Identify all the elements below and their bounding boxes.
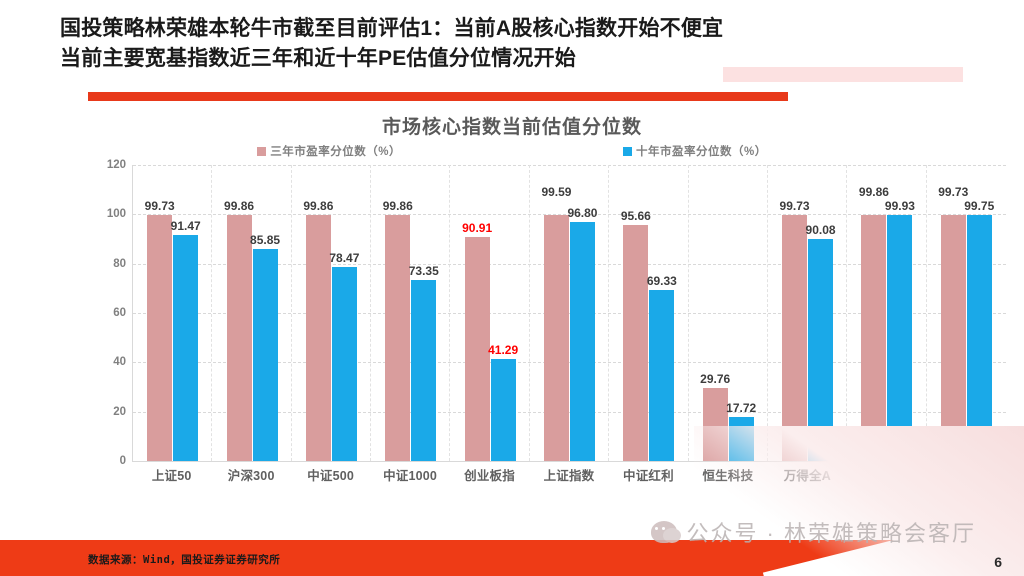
bar-value-label: 99.73 xyxy=(938,186,968,199)
legend-label-ten-year: 十年市盈率分位数（%） xyxy=(636,143,767,159)
bar-value-label: 99.86 xyxy=(383,200,413,213)
bar-ten-year[interactable]: 99.75 xyxy=(967,215,992,461)
bar-value-label: 78.47 xyxy=(329,252,359,265)
bar-three-year[interactable]: 99.59 xyxy=(544,215,569,461)
page-number: 6 xyxy=(994,554,1002,570)
legend-item-ten-year: 十年市盈率分位数（%） xyxy=(623,143,767,159)
bar-value-label: 99.73 xyxy=(780,200,810,213)
slide-title-line-2: 当前主要宽基指数近三年和近十年PE估值分位情况开始 xyxy=(60,44,1000,74)
bar-group: 99.5996.80 xyxy=(530,165,609,461)
bar-three-year[interactable]: 99.73 xyxy=(782,215,807,461)
bar-three-year[interactable]: 99.73 xyxy=(941,215,966,461)
bar-value-label: 69.33 xyxy=(647,275,677,288)
bar-value-label: 99.93 xyxy=(885,200,915,213)
chart-title: 市场核心指数当前估值分位数 xyxy=(0,115,1024,141)
y-axis-tick: 80 xyxy=(98,258,126,270)
bar-ten-year[interactable]: 96.80 xyxy=(570,222,595,461)
bar-group: 29.7617.72 xyxy=(689,165,768,461)
slide-canvas: 国投策略林荣雄本轮牛市截至目前评估1：当前A股核心指数开始不便宜 当前主要宽基指… xyxy=(0,0,1024,576)
bar-three-year[interactable]: 99.86 xyxy=(306,215,331,461)
bar-value-label: 99.86 xyxy=(859,186,889,199)
x-axis-tick: 沪深300 xyxy=(211,465,290,484)
bar-value-label: 99.86 xyxy=(224,200,254,213)
bar-ten-year[interactable]: 41.29 xyxy=(491,359,516,461)
bar-value-label: 17.72 xyxy=(726,402,756,415)
bar-value-label: 99.75 xyxy=(964,200,994,213)
y-axis-tick: 100 xyxy=(98,208,126,220)
bar-three-year[interactable]: 99.86 xyxy=(385,215,410,461)
bar-ten-year[interactable]: 99.93 xyxy=(887,215,912,461)
bar-three-year[interactable]: 90.91 xyxy=(465,237,490,461)
bar-ten-year[interactable]: 78.47 xyxy=(332,267,357,461)
x-axis-tick: 中证1000 xyxy=(370,465,449,484)
y-axis-tick: 60 xyxy=(98,307,126,319)
x-axis-tick: 上证50 xyxy=(132,465,211,484)
legend-item-three-year: 三年市盈率分位数（%） xyxy=(257,143,401,159)
x-axis-tick: 上证指数 xyxy=(529,465,608,484)
bar-group: 99.8685.85 xyxy=(212,165,291,461)
bar-group: 99.7391.47 xyxy=(133,165,212,461)
bar-value-label: 99.73 xyxy=(145,200,175,213)
bar-group: 95.6669.33 xyxy=(609,165,688,461)
bar-value-label: 99.86 xyxy=(303,200,333,213)
bar-value-label: 99.59 xyxy=(541,186,571,199)
legend-swatch-three-year xyxy=(257,147,266,156)
x-axis-tick: 中证500 xyxy=(291,465,370,484)
bar-group: 99.8699.93 xyxy=(847,165,926,461)
bar-group: 99.8678.47 xyxy=(292,165,371,461)
watermark-label: 公众号 · 林荣雄策略会客厅 xyxy=(686,516,976,548)
watermark: 公众号 · 林荣雄策略会客厅 xyxy=(651,516,976,548)
bar-value-label: 95.66 xyxy=(621,210,651,223)
bar-three-year[interactable]: 99.86 xyxy=(227,215,252,461)
y-axis-tick: 0 xyxy=(98,455,126,467)
bar-value-label: 29.76 xyxy=(700,373,730,386)
slide-title-block: 国投策略林荣雄本轮牛市截至目前评估1：当前A股核心指数开始不便宜 当前主要宽基指… xyxy=(60,14,1000,74)
bar-three-year[interactable]: 99.73 xyxy=(147,215,172,461)
bar-group: 99.8673.35 xyxy=(371,165,450,461)
y-axis-tick: 40 xyxy=(98,356,126,368)
bar-value-label: 85.85 xyxy=(250,234,280,247)
bar-value-label: 41.29 xyxy=(488,344,518,357)
bar-ten-year[interactable]: 85.85 xyxy=(253,249,278,461)
y-axis: 020406080100120 xyxy=(98,165,126,461)
x-axis-tick: 创业板指 xyxy=(450,465,529,484)
bar-ten-year[interactable]: 73.35 xyxy=(411,280,436,461)
bar-value-label: 90.91 xyxy=(462,222,492,235)
legend-label-three-year: 三年市盈率分位数（%） xyxy=(270,143,401,159)
chart-legend: 三年市盈率分位数（%） 十年市盈率分位数（%） xyxy=(0,143,1024,159)
x-axis-tick: 中证红利 xyxy=(609,465,688,484)
slide-title-line-1: 国投策略林荣雄本轮牛市截至目前评估1：当前A股核心指数开始不便宜 xyxy=(60,14,1000,44)
wechat-icon xyxy=(651,521,677,543)
bar-ten-year[interactable]: 91.47 xyxy=(173,235,198,461)
y-axis-tick: 120 xyxy=(98,159,126,171)
bar-value-label: 90.08 xyxy=(806,224,836,237)
bar-ten-year[interactable]: 69.33 xyxy=(649,290,674,461)
bar-value-label: 73.35 xyxy=(409,265,439,278)
bar-value-label: 96.80 xyxy=(567,207,597,220)
plot-area: 99.7391.4799.8685.8599.8678.4799.8673.35… xyxy=(132,165,1006,462)
bar-group: 90.9141.29 xyxy=(450,165,529,461)
bar-three-year[interactable]: 99.86 xyxy=(861,215,886,461)
bar-group: 99.7399.75 xyxy=(927,165,1006,461)
title-underline-rule xyxy=(88,92,788,101)
bar-three-year[interactable]: 95.66 xyxy=(623,225,648,461)
bar-groups: 99.7391.4799.8685.8599.8678.4799.8673.35… xyxy=(133,165,1006,461)
legend-swatch-ten-year xyxy=(623,147,632,156)
bar-value-label: 91.47 xyxy=(171,220,201,233)
corner-gradient-decoration xyxy=(694,426,1024,576)
bar-group: 99.7390.08 xyxy=(768,165,847,461)
source-note: 数据来源：Wind，国投证券证券研究所 xyxy=(88,552,280,567)
y-axis-tick: 20 xyxy=(98,406,126,418)
